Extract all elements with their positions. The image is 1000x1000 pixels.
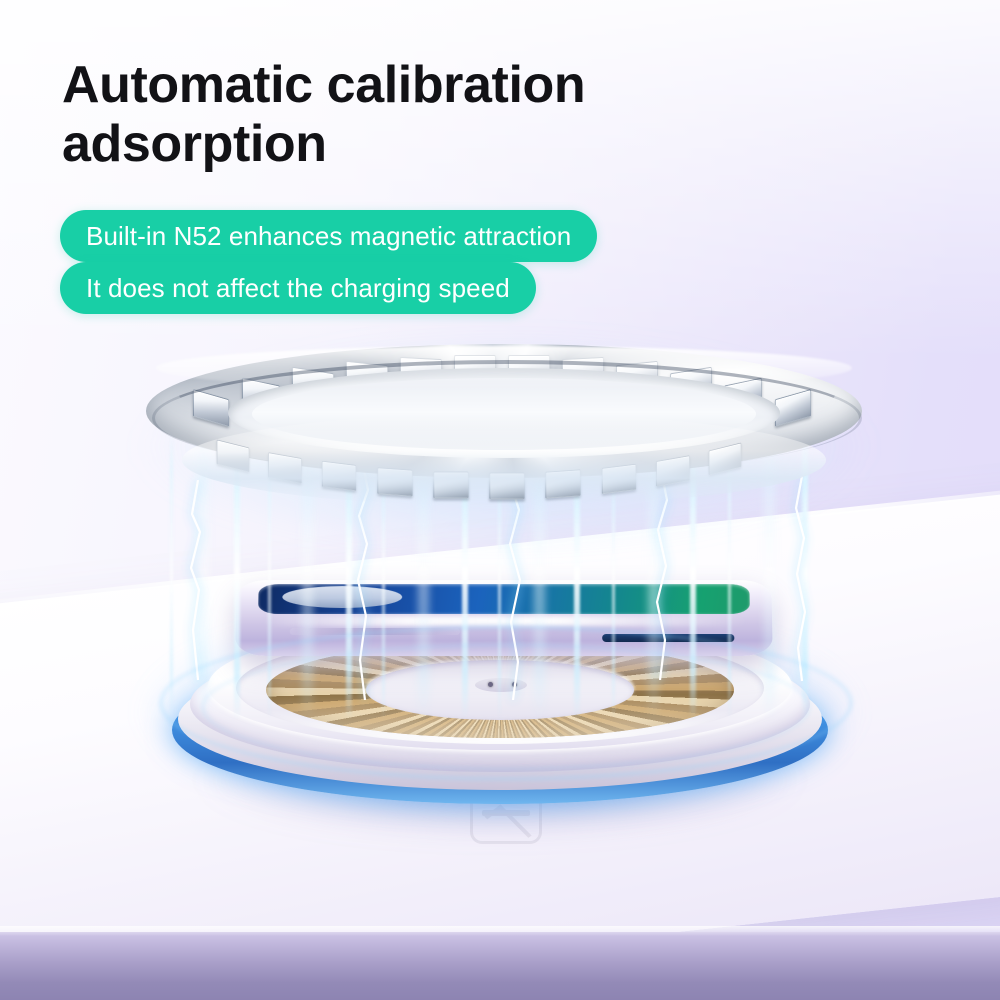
feature-pill-row: Built-in N52 enhances magnetic attractio…: [60, 210, 597, 262]
phone-dark-slot: [602, 634, 734, 642]
coil-pin-right: [512, 682, 517, 687]
phone-camera-lens: [282, 586, 402, 608]
headline-line-2: adsorption: [62, 115, 802, 174]
feature-pill-list: Built-in N52 enhances magnetic attractio…: [60, 210, 597, 314]
feature-pill-charging-speed: It does not affect the charging speed: [60, 262, 536, 314]
magnet-ring: [146, 344, 862, 520]
smartphone: [235, 580, 773, 656]
headline-line-1: Automatic calibration: [62, 56, 802, 115]
page-title: Automatic calibration adsorption: [62, 56, 802, 175]
feature-pill-row: It does not affect the charging speed: [60, 262, 597, 314]
coil-center-plate: [475, 678, 527, 692]
floor-band: [0, 932, 1000, 1000]
coil-pin-left: [488, 682, 493, 687]
feature-pill-magnetic-attraction: Built-in N52 enhances magnetic attractio…: [60, 210, 597, 262]
product-poster: Automatic calibration adsorption Built-i…: [0, 0, 1000, 1000]
phone-edge-highlight: [262, 616, 748, 626]
phone-side-sheen: [290, 628, 460, 635]
magnet-ring-bottom-sheen: [182, 414, 826, 506]
